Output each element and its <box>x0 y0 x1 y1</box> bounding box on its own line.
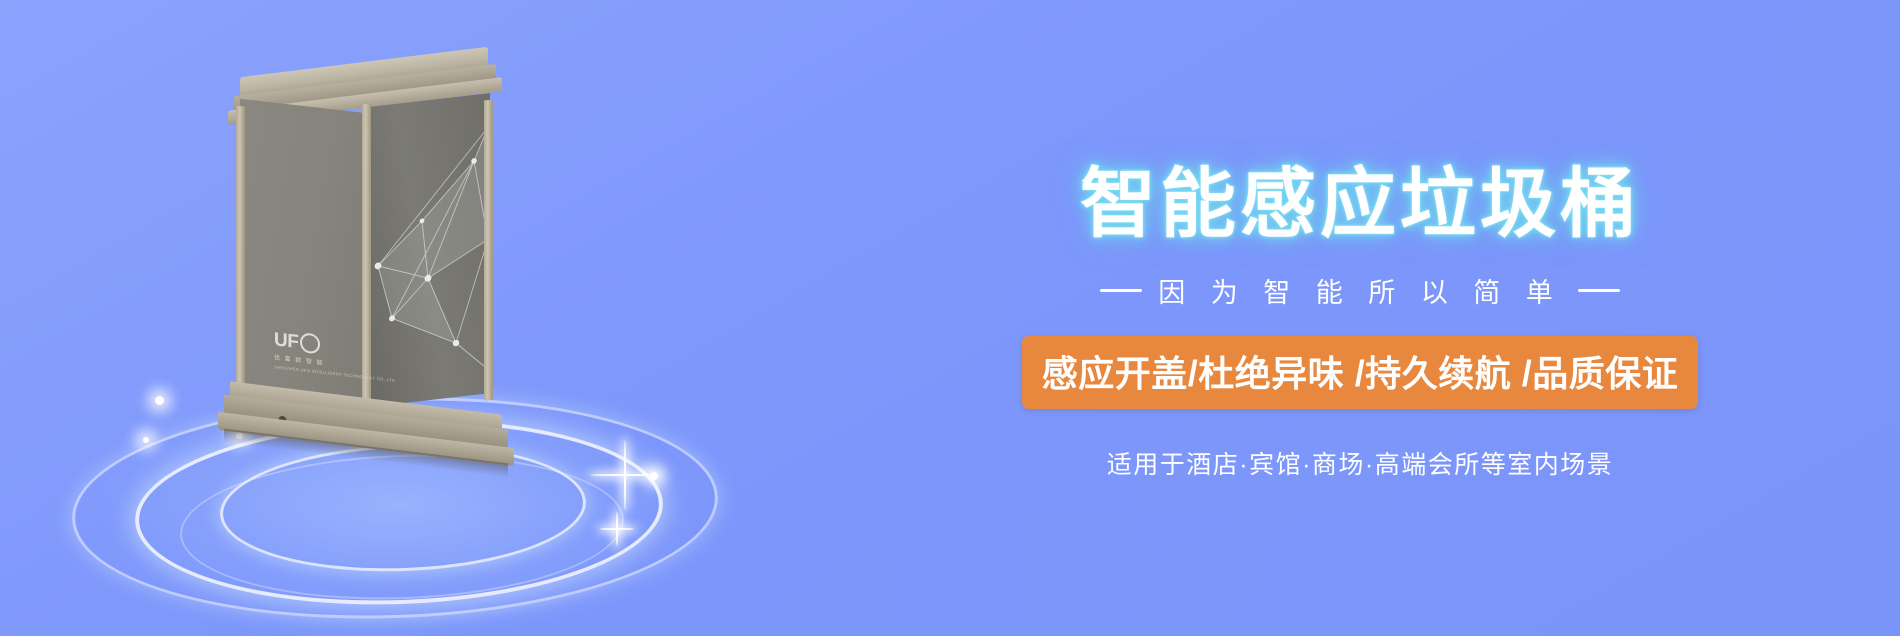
sparkle-star-right-lower <box>600 512 634 546</box>
polygon-mesh-graphic <box>370 93 490 407</box>
copy-column: 智能感应垃圾桶 因 为 智 能 所 以 简 单 感应开盖/杜绝异味 /持久续航 … <box>880 0 1840 636</box>
tagline-row: 因 为 智 能 所 以 简 单 <box>1100 271 1620 310</box>
corner-pilaster-right <box>484 99 493 400</box>
brand-logo-letters: UF <box>274 330 298 352</box>
tagline-rule-right <box>1578 289 1620 292</box>
sensor-ring-faint <box>178 447 627 606</box>
sparkle-dot-right <box>650 472 658 480</box>
trash-can-product: UF 优 富 欧 智 能 SHENZHEN UFO INTELLIGENT TE… <box>218 58 518 458</box>
tagline-text: 因 为 智 能 所 以 简 单 <box>1158 271 1562 310</box>
product-stage: UF 优 富 欧 智 能 SHENZHEN UFO INTELLIGENT TE… <box>60 0 780 636</box>
usage-scenario-line: 适用于酒店·宾馆·商场·高端会所等室内场景 <box>1107 445 1613 481</box>
headline: 智能感应垃圾桶 <box>1080 165 1640 245</box>
corner-pilaster-left <box>236 105 245 408</box>
body-face-right <box>370 93 490 407</box>
sparkle-dot-left-upper <box>155 396 164 405</box>
product-banner: UF 优 富 欧 智 能 SHENZHEN UFO INTELLIGENT TE… <box>0 0 1900 636</box>
tagline-rule-left <box>1100 289 1142 292</box>
sparkle-dot-left-small <box>143 437 149 443</box>
brand-logo-ring-icon <box>300 332 320 354</box>
corner-pilaster-center <box>362 104 371 410</box>
feature-highlight-bar: 感应开盖/杜绝异味 /持久续航 /品质保证 <box>1022 336 1699 409</box>
sparkle-star-right <box>590 440 660 510</box>
